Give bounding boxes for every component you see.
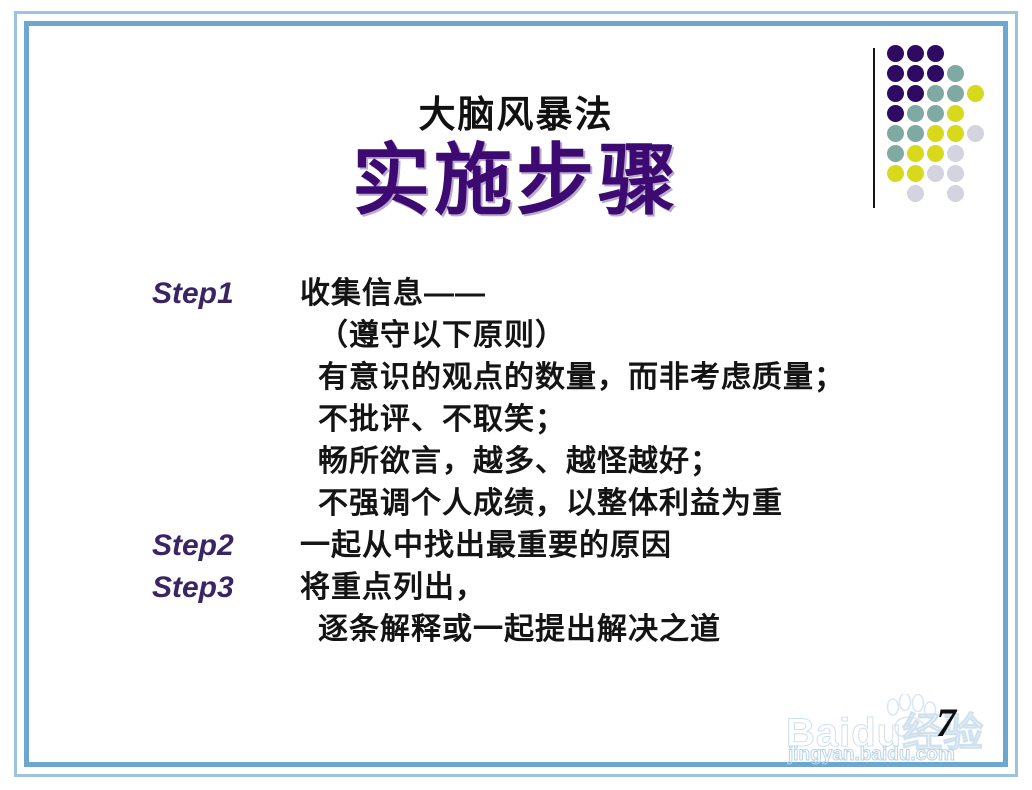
dot-yellow [967,85,984,102]
step-list: Step1收集信息——（遵守以下原则）有意识的观点的数量，而非考虑质量；不批评、… [152,268,982,646]
step-line: Step2一起从中找出最重要的原因 [152,520,982,562]
dot-blank [927,185,944,202]
dot-yellow [927,145,944,162]
step-text: 不强调个人成绩，以整体利益为重 [300,478,783,522]
dot-row [887,45,987,65]
step-text: 不批评、不取笑； [300,394,566,438]
step-label-step3: Step3 [152,571,300,605]
dot-purple [887,105,904,122]
page-number: 7 [936,699,956,746]
dot-purple [907,45,924,62]
step-text: 将重点列出， [300,562,486,606]
dot-grey [967,125,984,142]
dot-yellow [947,125,964,142]
dot-yellow [927,125,944,142]
step-text: 一起从中找出最重要的原因 [300,520,672,564]
step-line: Step3将重点列出， [152,562,982,604]
dot-yellow [907,145,924,162]
step-line: 畅所欲言，越多、越怪越好； [152,436,982,478]
dot-grey [947,165,964,182]
dot-teal [907,105,924,122]
dot-purple [927,45,944,62]
dot-yellow [907,165,924,182]
step-line: 逐条解释或一起提出解决之道 [152,604,982,646]
dot-purple [887,45,904,62]
dot-grey [907,185,924,202]
dot-grey [947,185,964,202]
decorative-dot-grid [873,45,1003,210]
dot-row [887,85,987,105]
presentation-slide: 大脑风暴法 实施步骤 Step1收集信息——（遵守以下原则）有意识的观点的数量，… [0,0,1032,790]
step-label-step2: Step2 [152,529,300,563]
dot-grey [927,165,944,182]
step-text: 有意识的观点的数量，而非考虑质量； [300,352,845,396]
dot-grey [947,145,964,162]
dot-row [887,125,987,145]
step-text: （遵守以下原则） [300,310,566,354]
step-text: 逐条解释或一起提出解决之道 [300,604,721,648]
dot-teal [887,125,904,142]
dot-row [887,165,987,185]
dot-teal [927,85,944,102]
step-label-step1: Step1 [152,277,300,311]
dot-teal [907,125,924,142]
vertical-rule [873,48,875,208]
dot-purple [907,65,924,82]
dot-purple [907,85,924,102]
step-line: （遵守以下原则） [152,310,982,352]
dot-row [887,185,987,205]
step-line: 有意识的观点的数量，而非考虑质量； [152,352,982,394]
dot-teal [947,85,964,102]
step-line: Step1收集信息—— [152,268,982,310]
dot-row [887,105,987,125]
dot-purple [927,65,944,82]
dot-blank [887,185,904,202]
dot-purple [887,85,904,102]
step-line: 不强调个人成绩，以整体利益为重 [152,478,982,520]
step-text: 畅所欲言，越多、越怪越好； [300,436,721,480]
dot-teal [947,65,964,82]
dot-yellow [887,165,904,182]
step-line: 不批评、不取笑； [152,394,982,436]
dot-row [887,65,987,85]
dot-yellow [947,105,964,122]
dot-teal [887,145,904,162]
dot-teal [927,105,944,122]
dot-purple [887,65,904,82]
dot-row [887,145,987,165]
step-text: 收集信息—— [300,268,486,312]
dot-grid-rows [887,45,987,205]
